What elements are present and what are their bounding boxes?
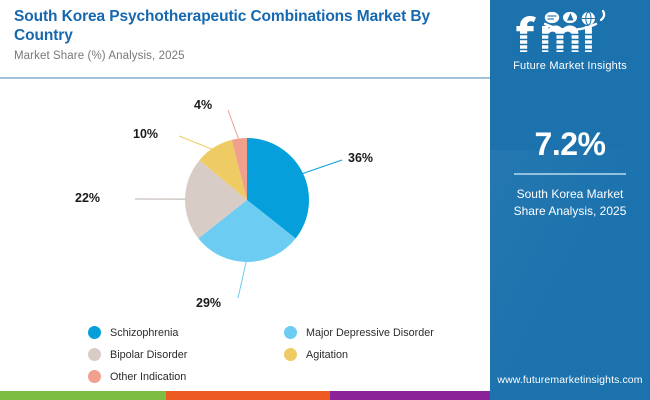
pie-chart: 36% 29% 22% 10% 4% [0, 78, 490, 318]
fmi-logo: Future Market Insights [490, 6, 650, 84]
pie-label-major-depressive-disorder: 29% [196, 296, 221, 310]
pie-chart-svg [0, 78, 490, 318]
page-subtitle: Market Share (%) Analysis, 2025 [14, 50, 185, 62]
legend-item[interactable]: Schizophrenia [88, 326, 178, 339]
pie-label-agitation: 10% [133, 127, 158, 141]
legend-color-swatch [88, 370, 101, 383]
fmi-logo-mark [490, 6, 650, 60]
stat-divider [514, 173, 626, 175]
pie-label-other-indication: 4% [194, 98, 212, 112]
legend-item[interactable]: Agitation [284, 348, 348, 361]
website-url: www.futuremarketinsights.com [490, 374, 650, 386]
footer-strip-orange [166, 391, 330, 400]
footer-strip-purple [330, 391, 490, 400]
legend-color-swatch [88, 326, 101, 339]
side-panel: Future Market Insights 7.2% South Korea … [490, 0, 650, 400]
legend-label: Bipolar Disorder [110, 349, 187, 361]
legend-label: Schizophrenia [110, 327, 178, 339]
legend-item[interactable]: Bipolar Disorder [88, 348, 187, 361]
pie-label-schizophrenia: 36% [348, 151, 373, 165]
legend-label: Major Depressive Disorder [306, 327, 434, 339]
legend-color-swatch [88, 348, 101, 361]
page-title: South Korea Psychotherapeutic Combinatio… [14, 8, 484, 46]
pie-label-bipolar-disorder: 22% [75, 191, 100, 205]
legend-item[interactable]: Major Depressive Disorder [284, 326, 434, 339]
header: South Korea Psychotherapeutic Combinatio… [0, 0, 490, 78]
pie-slices [185, 138, 309, 262]
stat-label: South Korea Market Share Analysis, 2025 [490, 186, 650, 221]
footer-strip-green [0, 391, 166, 400]
infographic-canvas: South Korea Psychotherapeutic Combinatio… [0, 0, 650, 400]
legend-color-swatch [284, 348, 297, 361]
stat-value: 7.2% [490, 128, 650, 160]
legend-label: Agitation [306, 349, 348, 361]
legend-color-swatch [284, 326, 297, 339]
legend-item[interactable]: Other Indication [88, 370, 186, 383]
stat-block: 7.2% South Korea Market Share Analysis, … [490, 128, 650, 220]
fmi-logo-subtitle: Future Market Insights [490, 60, 650, 72]
fmi-logo-icon [490, 6, 650, 60]
legend-label: Other Indication [110, 371, 186, 383]
